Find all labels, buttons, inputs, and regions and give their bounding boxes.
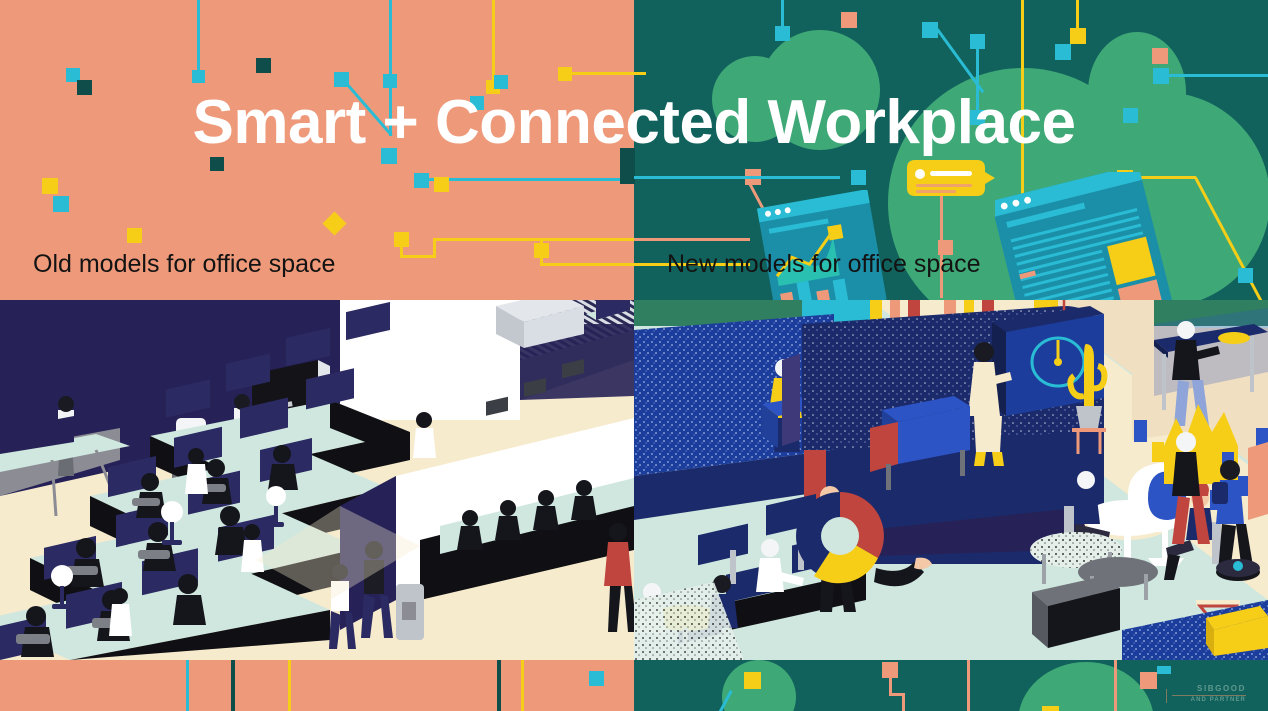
decor-square-cyan-17	[851, 170, 866, 185]
right-panel-subtitle: New models for office space	[667, 250, 981, 279]
decor-square-yellow-bottom-2	[1042, 706, 1059, 711]
decor-square-cyan-9	[494, 75, 508, 89]
decor-line-yellow-10	[1076, 0, 1079, 30]
decor-square-yellow-5	[434, 177, 449, 192]
slide-smart-connected-workplace: Smart + Connected Workplace Old models f…	[0, 0, 1268, 711]
decor-line-teal-bottom-1	[231, 660, 235, 711]
decor-square-yellow-6	[394, 232, 409, 247]
decor-line-yellow-6	[433, 238, 640, 241]
page-title: Smart + Connected Workplace	[0, 92, 1268, 154]
decor-line-cyan-3	[428, 178, 634, 181]
decor-line-cyan-7	[1167, 74, 1268, 77]
decor-line-yellow-1	[492, 0, 495, 82]
decor-line-coral-bottom-3	[902, 693, 905, 711]
logo-line-2: AND PARTNER	[1172, 697, 1246, 703]
old-office-illustration	[0, 300, 634, 660]
decor-square-coral-bottom-2	[1140, 672, 1157, 689]
decor-line-cyan-8	[634, 176, 840, 179]
decor-line-teal-bottom-2	[497, 660, 501, 711]
logo-divider	[1172, 695, 1246, 696]
new-office-svg	[634, 300, 1268, 660]
decor-line-coral-bottom-4	[967, 660, 970, 711]
decor-square-teal-2	[256, 58, 271, 73]
chat-tag-icon	[903, 160, 995, 202]
decor-line-cyan-1	[197, 0, 200, 72]
decor-square-cyan-4	[334, 72, 349, 87]
decor-square-cyan-8	[53, 196, 69, 212]
decor-square-cyan-bottom-2	[1157, 666, 1171, 674]
decor-square-cyan-10	[775, 26, 790, 41]
decor-square-yellow-4	[127, 228, 142, 243]
decor-square-cyan-19	[1238, 268, 1253, 283]
decor-square-cyan-3	[383, 74, 397, 88]
decor-square-teal-3	[210, 157, 224, 171]
brand-logo: SIBGOOD AND PARTNER	[1172, 685, 1246, 703]
decor-square-yellow-2	[558, 67, 572, 81]
illustration-band	[0, 300, 1268, 660]
left-panel-subtitle: Old models for office space	[33, 250, 335, 279]
decor-square-cyan-bottom-1	[589, 671, 604, 686]
decor-line-yellow-2	[566, 72, 646, 75]
decor-square-cyan-7	[414, 173, 429, 188]
logo-tick-mark	[1166, 689, 1167, 703]
decor-line-yellow-bottom-1	[288, 660, 291, 711]
decor-square-yellow-8	[1070, 28, 1086, 44]
decor-line-coral-bottom-1	[889, 676, 892, 694]
decor-line-coral-bottom-5	[1114, 660, 1117, 711]
decor-line-coral-3	[634, 238, 750, 241]
decor-square-coral-2	[1152, 48, 1168, 64]
decor-square-yellow-bottom-1	[744, 672, 761, 689]
decor-square-coral-1	[841, 12, 857, 28]
new-office-illustration	[634, 300, 1268, 660]
decor-square-cyan-1	[192, 70, 205, 83]
logo-line-1: SIBGOOD	[1172, 685, 1246, 693]
decor-square-cyan-14	[1055, 44, 1071, 60]
decor-line-cyan-bottom-1	[186, 660, 189, 711]
decor-line-yellow-bottom-2	[521, 660, 524, 711]
decor-square-yellow-3	[42, 178, 58, 194]
decor-line-yellow-4	[400, 255, 436, 258]
robot-vacuum	[1216, 559, 1260, 581]
decor-square-yellow-7	[534, 243, 549, 258]
decor-line-cyan-4	[781, 0, 784, 26]
old-office-svg	[0, 300, 634, 660]
decor-line-yellow-5	[433, 238, 436, 258]
